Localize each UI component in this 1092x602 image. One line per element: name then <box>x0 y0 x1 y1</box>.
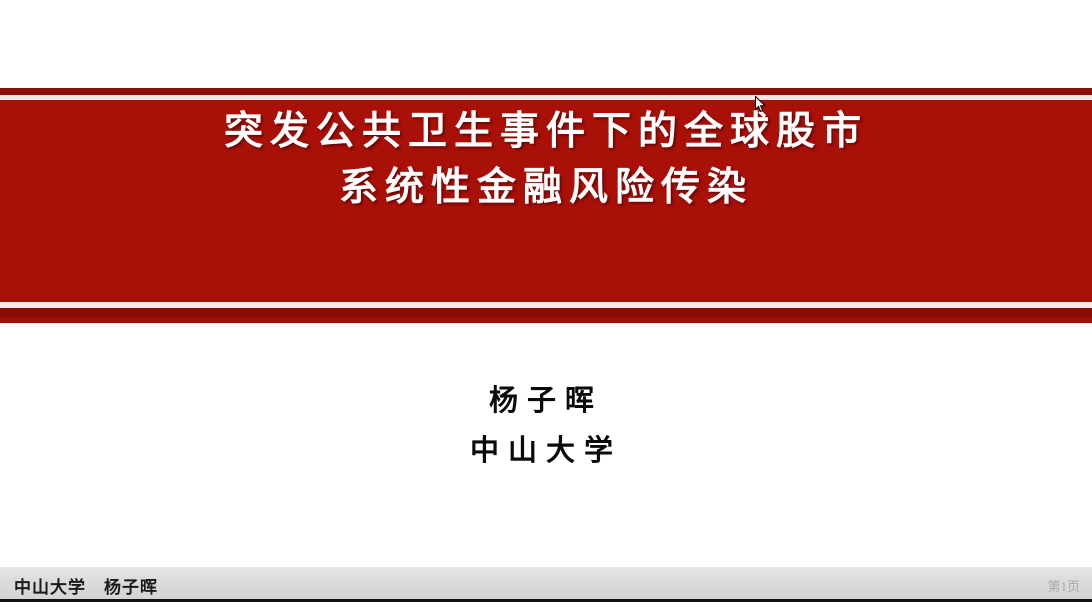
author-block: 杨子晖 中山大学 <box>0 376 1092 476</box>
presentation-slide: 突发公共卫生事件下的全球股市 系统性金融风险传染 杨子晖 中山大学 中山大学 杨… <box>0 0 1092 602</box>
slide-title: 突发公共卫生事件下的全球股市 系统性金融风险传染 <box>0 104 1092 216</box>
slide-footer: 中山大学 杨子晖 第1页 <box>0 567 1092 602</box>
banner-top-light-rule <box>0 95 1092 100</box>
title-line-1: 突发公共卫生事件下的全球股市 <box>0 104 1092 160</box>
banner-top-dark-rule <box>0 88 1092 95</box>
footer-attribution: 中山大学 杨子晖 <box>14 573 158 598</box>
title-line-2: 系统性金融风险传染 <box>0 160 1092 216</box>
title-banner: 突发公共卫生事件下的全球股市 系统性金融风险传染 <box>0 88 1092 323</box>
banner-bottom-edge-rule <box>0 317 1092 323</box>
author-name: 杨子晖 <box>0 376 1092 426</box>
banner-bottom-dark-rule <box>0 308 1092 317</box>
page-number: 第1页 <box>1047 576 1080 595</box>
author-affiliation: 中山大学 <box>0 426 1092 476</box>
